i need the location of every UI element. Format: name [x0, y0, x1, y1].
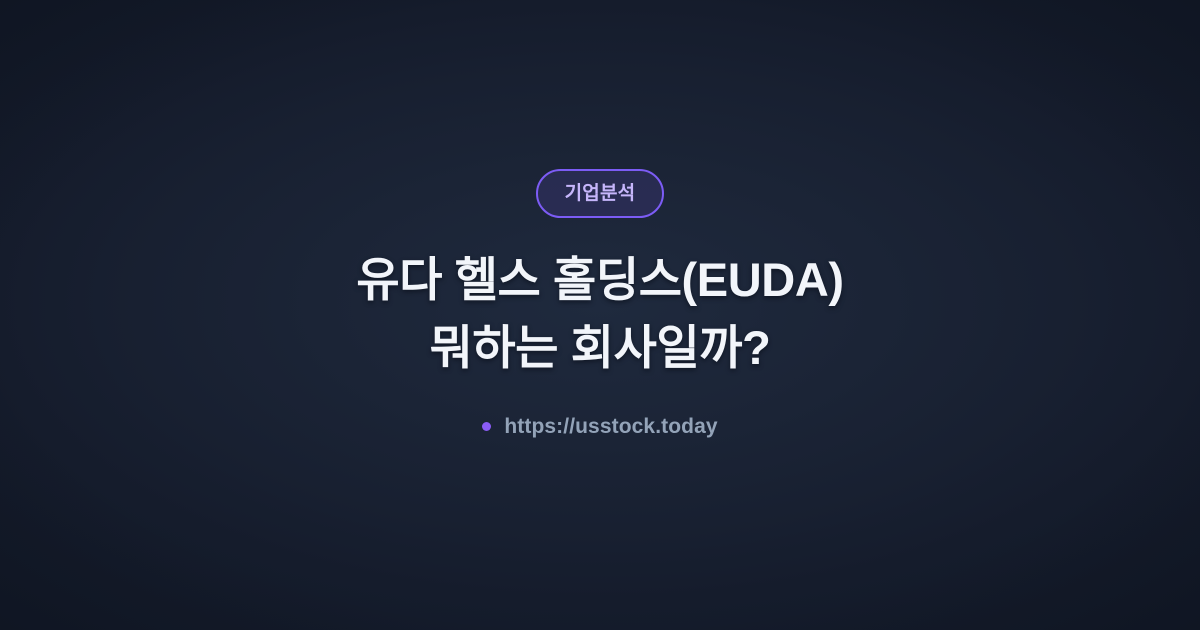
page-title-line-1: 유다 헬스 홀딩스(EUDA) — [356, 246, 843, 314]
site-url-text: https://usstock.today — [504, 415, 717, 439]
site-url: https://usstock.today — [482, 415, 717, 439]
page-title: 유다 헬스 홀딩스(EUDA) 뭐하는 회사일까? — [356, 246, 843, 381]
og-share-card: 기업분석 유다 헬스 홀딩스(EUDA) 뭐하는 회사일까? https://u… — [0, 0, 1200, 630]
bullet-dot-icon — [482, 422, 491, 431]
category-badge: 기업분석 — [536, 169, 665, 218]
card-content: 기업분석 유다 헬스 홀딩스(EUDA) 뭐하는 회사일까? https://u… — [0, 169, 1200, 438]
page-title-line-2: 뭐하는 회사일까? — [356, 314, 843, 382]
